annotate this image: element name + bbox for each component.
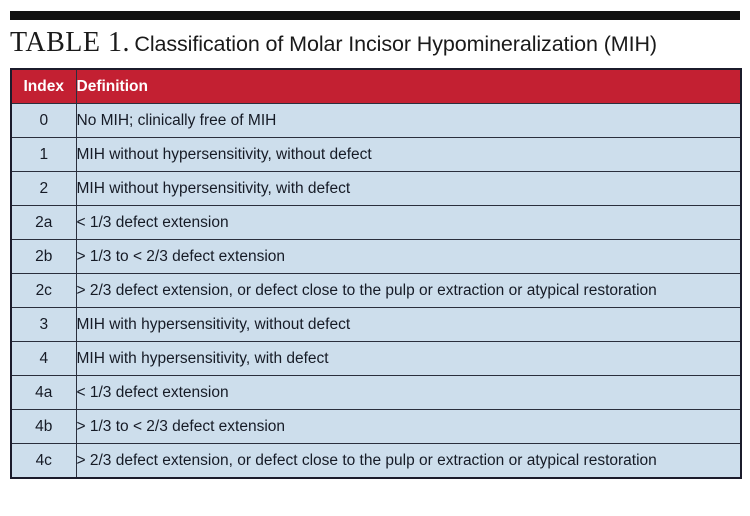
cell-definition: MIH with hypersensitivity, without defec… xyxy=(76,308,741,342)
cell-definition: > 2/3 defect extension, or defect close … xyxy=(76,274,741,308)
header-row: Index Definition xyxy=(11,69,741,104)
cell-definition: No MIH; clinically free of MIH xyxy=(76,104,741,138)
cell-index: 2c xyxy=(11,274,76,308)
cell-index: 2a xyxy=(11,206,76,240)
cell-definition: > 1/3 to < 2/3 defect extension xyxy=(76,410,741,444)
caption-top-rule xyxy=(10,11,740,20)
table-caption: TABLE 1. Classification of Molar Incisor… xyxy=(10,24,744,62)
cell-definition: MIH without hypersensitivity, without de… xyxy=(76,138,741,172)
cell-index: 4a xyxy=(11,376,76,410)
table-number: TABLE 1. xyxy=(10,27,130,58)
table-header: Index Definition xyxy=(11,69,741,104)
table-row: 2b > 1/3 to < 2/3 defect extension xyxy=(11,240,741,274)
table-row: 0 No MIH; clinically free of MIH xyxy=(11,104,741,138)
table-row: 2a < 1/3 defect extension xyxy=(11,206,741,240)
column-header-definition: Definition xyxy=(76,69,741,104)
table-figure: TABLE 1. Classification of Molar Incisor… xyxy=(0,0,750,516)
cell-index: 4b xyxy=(11,410,76,444)
cell-index: 4 xyxy=(11,342,76,376)
table-row: 4 MIH with hypersensitivity, with defect xyxy=(11,342,741,376)
table-row: 4a < 1/3 defect extension xyxy=(11,376,741,410)
table-row: 4b > 1/3 to < 2/3 defect extension xyxy=(11,410,741,444)
cell-definition: MIH with hypersensitivity, with defect xyxy=(76,342,741,376)
cell-definition: > 1/3 to < 2/3 defect extension xyxy=(76,240,741,274)
column-header-index: Index xyxy=(11,69,76,104)
table-row: 4c > 2/3 defect extension, or defect clo… xyxy=(11,444,741,479)
cell-index: 2 xyxy=(11,172,76,206)
cell-definition: < 1/3 defect extension xyxy=(76,206,741,240)
cell-definition: MIH without hypersensitivity, with defec… xyxy=(76,172,741,206)
cell-index: 2b xyxy=(11,240,76,274)
table-body: 0 No MIH; clinically free of MIH 1 MIH w… xyxy=(11,104,741,479)
cell-index: 3 xyxy=(11,308,76,342)
table-row: 3 MIH with hypersensitivity, without def… xyxy=(11,308,741,342)
table-title: Classification of Molar Incisor Hypomine… xyxy=(134,32,657,56)
table-row: 2c > 2/3 defect extension, or defect clo… xyxy=(11,274,741,308)
table-row: 1 MIH without hypersensitivity, without … xyxy=(11,138,741,172)
cell-definition: > 2/3 defect extension, or defect close … xyxy=(76,444,741,479)
cell-index: 0 xyxy=(11,104,76,138)
cell-index: 4c xyxy=(11,444,76,479)
cell-index: 1 xyxy=(11,138,76,172)
cell-definition: < 1/3 defect extension xyxy=(76,376,741,410)
mih-classification-table: Index Definition 0 No MIH; clinically fr… xyxy=(10,68,742,479)
table-row: 2 MIH without hypersensitivity, with def… xyxy=(11,172,741,206)
